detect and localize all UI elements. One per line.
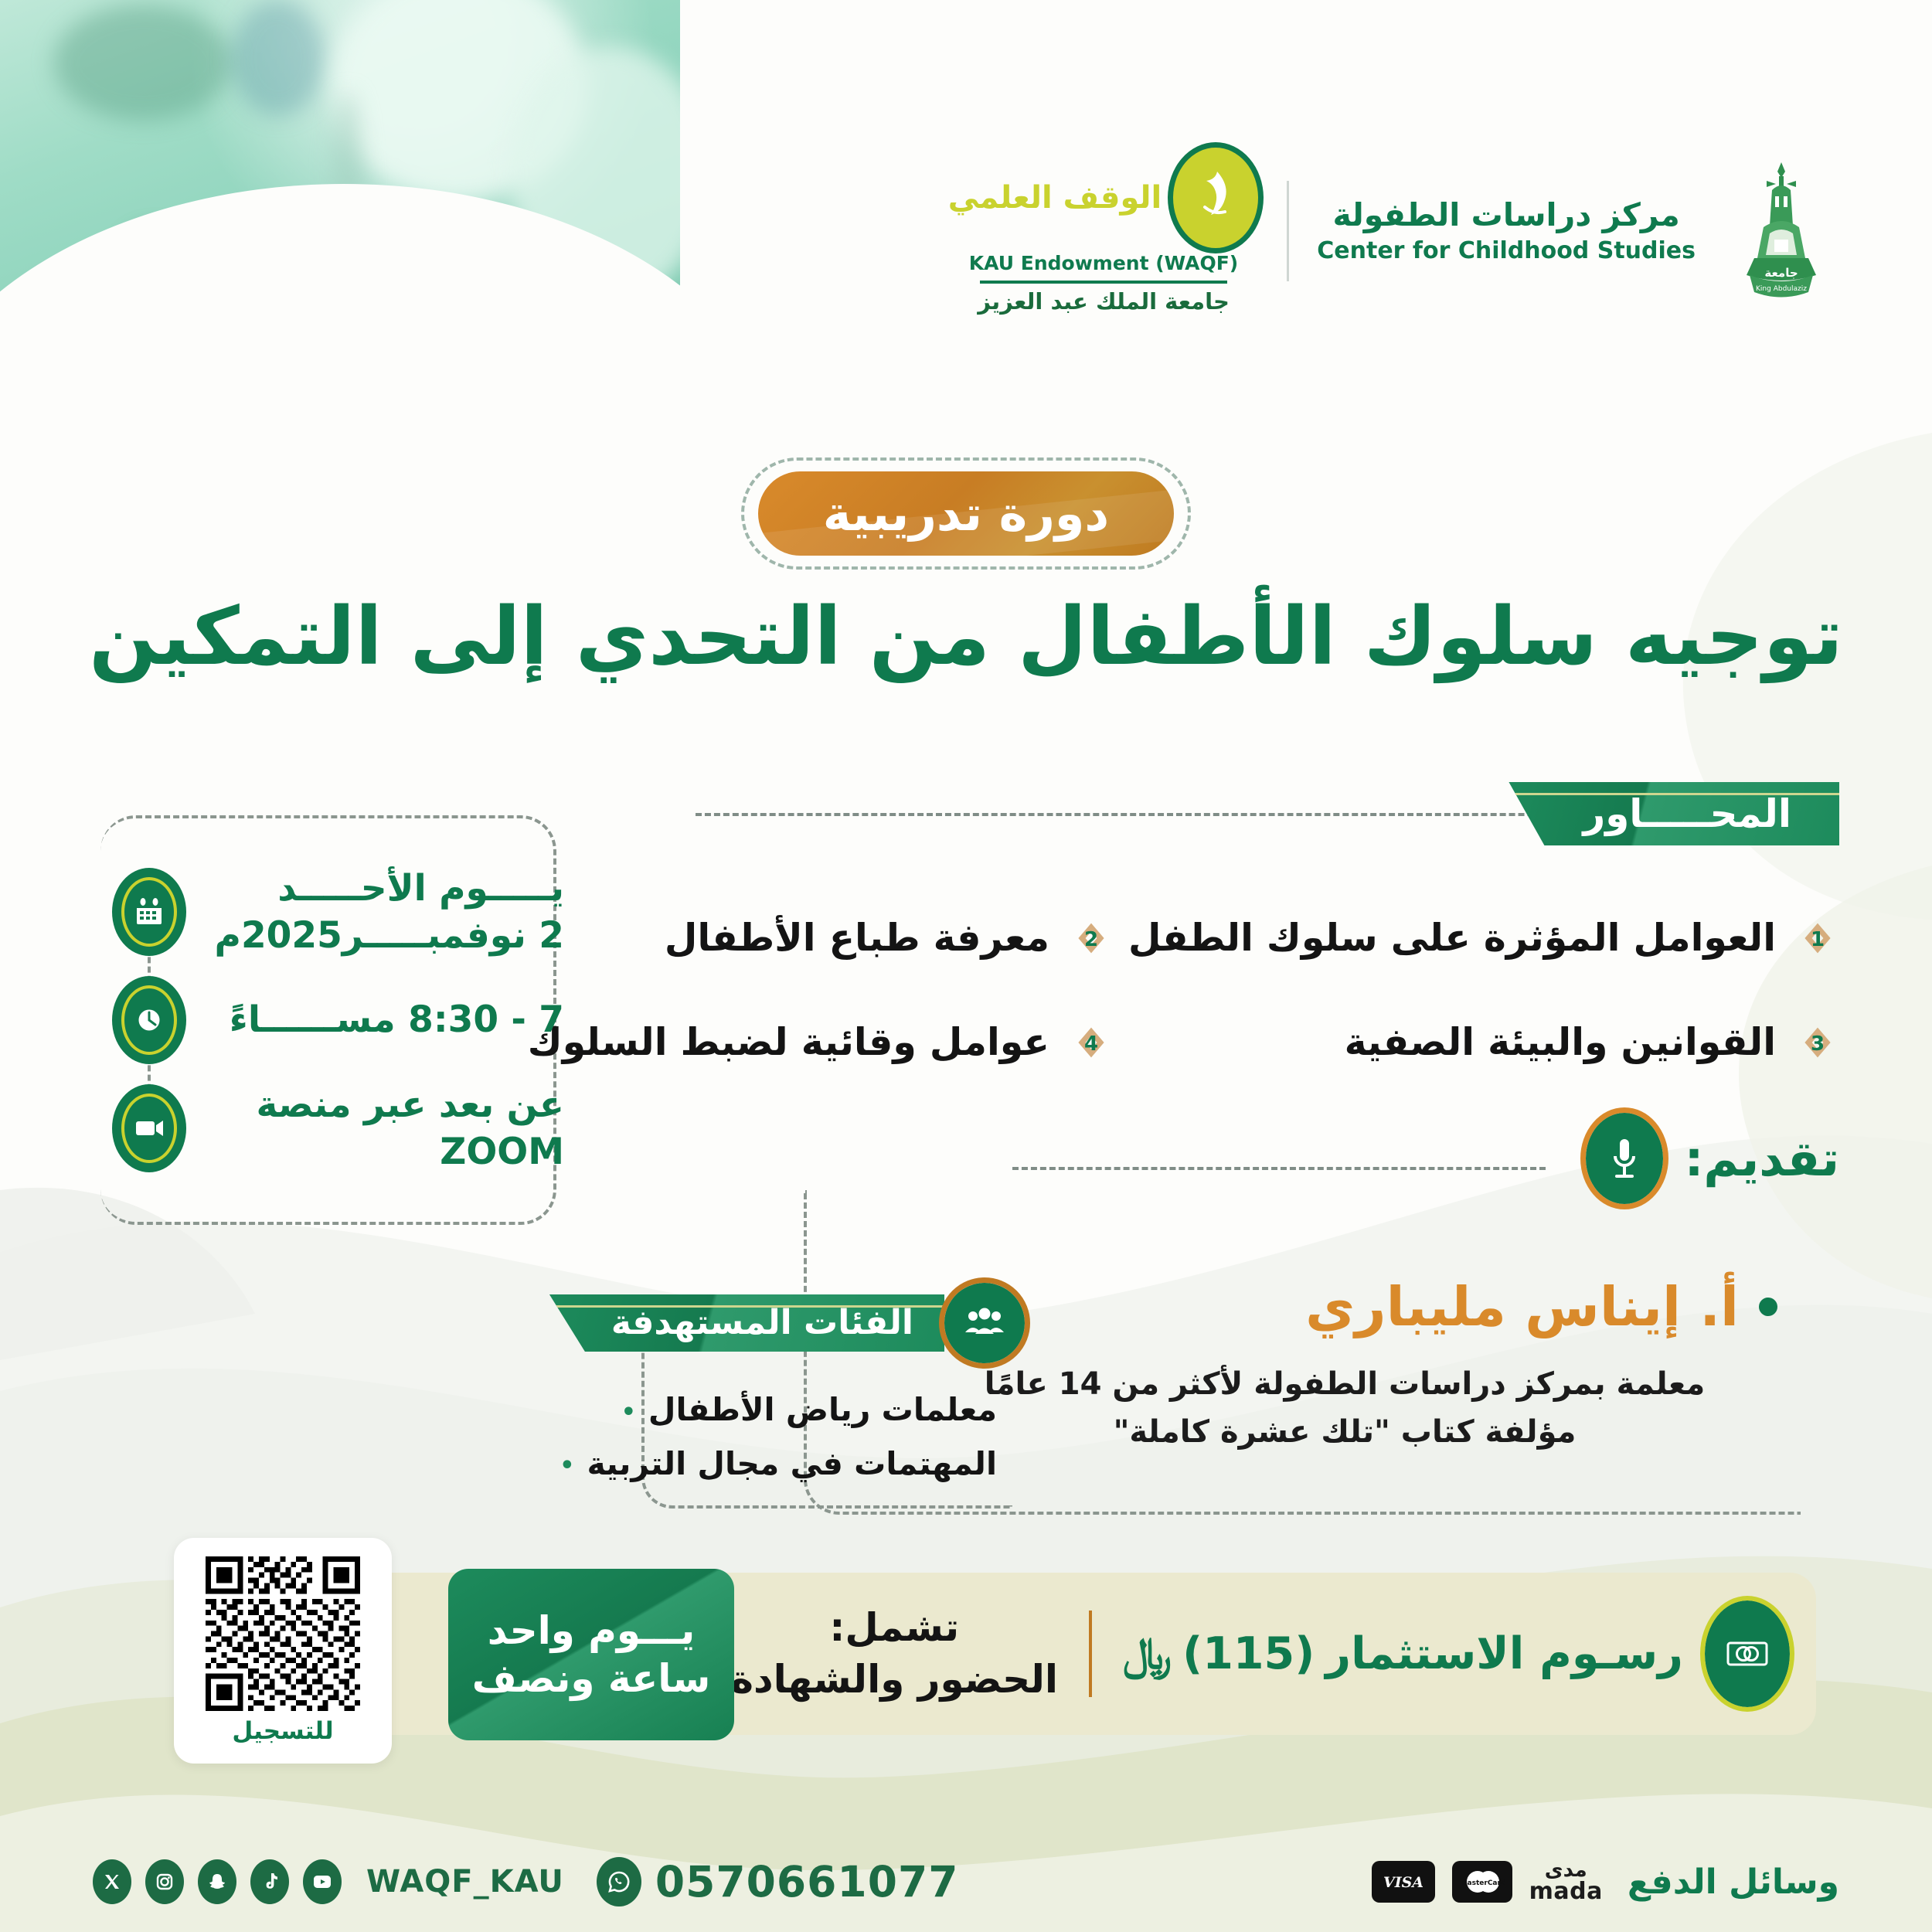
duration-line1: يـــوم واحد	[488, 1608, 696, 1653]
schedule-time-label: 7 - 8:30 مســــــاءً	[206, 996, 564, 1043]
waqf-rule	[980, 281, 1227, 284]
audience-heading: الفئات المستهدفة	[549, 1294, 944, 1352]
presenter-heading: تقديم:	[1685, 1131, 1839, 1187]
badge-dashed-frame: دورة تدريبية	[741, 457, 1192, 570]
fees-includes: تشمل: الحضور والشهادة	[730, 1602, 1058, 1706]
duration-line2: ساعة ونصف	[472, 1656, 711, 1701]
presenter-bio-line2: مؤلفة كتاب "تلك عشرة كاملة"	[912, 1408, 1777, 1456]
waqf-name-en: KAU Endowment (WAQF)	[948, 252, 1259, 274]
instagram-icon[interactable]	[145, 1859, 184, 1904]
svg-text:2: 2	[1084, 928, 1098, 951]
svg-text:3: 3	[1811, 1032, 1825, 1056]
qr-label: للتسجيل	[232, 1717, 333, 1745]
riyal-symbol-icon: ﷼	[1123, 1628, 1172, 1680]
svg-text:جامعة: جامعة	[1764, 266, 1798, 280]
fees-price: رسـوم الاستثمار (115) ﷼	[1123, 1628, 1683, 1680]
schedule-date-label: يـــــوم الأحـــــد 2 نوفمبـــــر2025م	[206, 865, 564, 959]
topic-number-badge-icon: 2	[1070, 917, 1113, 960]
course-type-badge-wrap: دورة تدريبية	[0, 457, 1932, 570]
calendar-icon	[116, 872, 182, 952]
qr-code-icon[interactable]	[198, 1556, 368, 1711]
center-name-ar: مركز دراسات الطفولة	[1317, 198, 1696, 233]
topic-item: 1 العوامل المؤثرة على سلوك الطفل	[1128, 916, 1839, 960]
page-title: توجيه سلوك الأطفال من التحدي إلى التمكين	[70, 587, 1862, 687]
duration-chip: يـــوم واحد ساعة ونصف	[448, 1569, 734, 1740]
video-camera-icon	[116, 1088, 182, 1168]
topic-number-badge-icon: 4	[1070, 1021, 1113, 1064]
youtube-icon[interactable]	[303, 1859, 342, 1904]
fees-divider	[1089, 1611, 1092, 1697]
center-name-block: مركز دراسات الطفولة Center for Childhood…	[1317, 198, 1696, 263]
payment-methods-label: وسائل الدفع	[1628, 1862, 1839, 1902]
topic-label: القوانين والبيئة الصفية	[1345, 1020, 1776, 1064]
waqf-mark-icon	[1172, 147, 1259, 249]
mastercard-icon: MasterCard	[1452, 1861, 1512, 1903]
schedule-item-platform: عن بعد عبر منصة ZOOM	[116, 1074, 564, 1182]
fees-label: رسـوم الاستثمار	[1325, 1628, 1683, 1679]
topics-heading-label: المحـــــاور	[1583, 791, 1791, 836]
topic-label: العوامل المؤثرة على سلوك الطفل	[1128, 916, 1776, 960]
audience-heading-label: الفئات المستهدفة	[611, 1303, 913, 1342]
logo-row: جامعة King Abdulaziz مركز دراسات الطفولة…	[948, 147, 1839, 315]
registration-qr-card[interactable]: للتسجيل	[174, 1538, 392, 1764]
clock-icon	[116, 980, 182, 1060]
course-type-label: دورة تدريبية	[823, 485, 1110, 542]
presenter-heading-wrap: تقديم:	[1586, 1113, 1839, 1204]
topic-label: معرفة طباع الأطفال	[665, 916, 1049, 960]
presenter-name: أ. إيناس مليباري	[1305, 1275, 1739, 1338]
microphone-icon	[1586, 1113, 1663, 1204]
phone-number: 0570661077	[655, 1857, 959, 1906]
topics-heading: المحـــــاور	[1509, 782, 1839, 845]
fees-includes-value: الحضور والشهادة	[730, 1654, 1058, 1706]
tiktok-icon[interactable]	[250, 1859, 289, 1904]
topic-item: 2 معرفة طباع الأطفال	[528, 916, 1113, 960]
schedule-date-line2: 2 نوفمبـــــر2025م	[206, 912, 564, 959]
poster-root: جامعة King Abdulaziz مركز دراسات الطفولة…	[0, 0, 1932, 1932]
whatsapp-icon[interactable]	[597, 1857, 641, 1906]
banknote-icon	[1705, 1600, 1790, 1707]
schedule-item-time: 7 - 8:30 مســــــاءً	[116, 966, 564, 1074]
svg-text:MasterCard: MasterCard	[1460, 1879, 1505, 1887]
svg-text:VISA: VISA	[1383, 1874, 1423, 1891]
waqf-university-ar: جامعة الملك عبد العزيز	[948, 288, 1259, 315]
logo-divider	[1287, 181, 1289, 281]
social-handle: WAQF_KAU	[366, 1864, 564, 1900]
audience-item: معلمات رياض الأطفال	[649, 1383, 997, 1437]
topic-number-badge-icon: 1	[1796, 917, 1839, 960]
kau-seal-icon: جامعة King Abdulaziz	[1723, 159, 1839, 302]
visa-icon: VISA	[1372, 1861, 1435, 1903]
center-name-en: Center for Childhood Studies	[1317, 238, 1696, 264]
mada-logo-icon: مدى mada	[1529, 1860, 1603, 1903]
svg-text:King Abdulaziz: King Abdulaziz	[1756, 285, 1807, 293]
waqf-calligraphy: الوقف العلمي	[948, 180, 1162, 216]
header-photo	[0, 0, 680, 410]
audience-list: معلمات رياض الأطفال المهتمات في مجال الت…	[649, 1383, 997, 1491]
topics-heading-wrap: المحـــــاور	[1509, 782, 1839, 845]
presenter-bio-line1: معلمة بمركز دراسات الطفولة لأكثر من 14 ع…	[912, 1360, 1777, 1408]
fees-includes-label: تشمل:	[730, 1602, 1058, 1655]
footer: وسائل الدفع مدى mada MasterCard VISA	[0, 1835, 1932, 1928]
schedule-item-date: يـــــوم الأحـــــد 2 نوفمبـــــر2025م	[116, 858, 564, 966]
presenter-bullet-icon	[1759, 1298, 1777, 1316]
people-group-icon	[944, 1283, 1025, 1363]
topic-item: 3 القوانين والبيئة الصفية	[1128, 1020, 1839, 1064]
waqf-logo-block: الوقف العلمي KAU Endowment (WAQF) جامعة …	[948, 147, 1259, 315]
course-type-badge: دورة تدريبية	[758, 471, 1175, 556]
schedule-platform-label: عن بعد عبر منصة ZOOM	[206, 1081, 564, 1175]
topic-label: عوامل وقائية لضبط السلوك	[528, 1020, 1049, 1064]
contact-row: WAQF_KAU 0570661077	[93, 1857, 959, 1906]
schedule-date-line1: يـــــوم الأحـــــد	[206, 865, 564, 912]
audience-heading-wrap: الفئات المستهدفة	[549, 1283, 1012, 1363]
topic-number-badge-icon: 3	[1796, 1021, 1839, 1064]
topic-item: 4 عوامل وقائية لضبط السلوك	[528, 1020, 1113, 1064]
audience-item: المهتمات في مجال التربية	[649, 1437, 997, 1492]
svg-text:1: 1	[1811, 928, 1825, 951]
snapchat-icon[interactable]	[198, 1859, 236, 1904]
svg-text:4: 4	[1084, 1032, 1098, 1056]
payment-methods: وسائل الدفع مدى mada MasterCard VISA	[1372, 1860, 1839, 1903]
x-icon[interactable]	[93, 1859, 131, 1904]
fees-amount: (115)	[1182, 1628, 1315, 1679]
presenter-dash-line	[1012, 1167, 1546, 1170]
topics-list: 1 العوامل المؤثرة على سلوك الطفل 2 معرفة…	[680, 916, 1839, 1064]
schedule-list: يـــــوم الأحـــــد 2 نوفمبـــــر2025م 7…	[116, 858, 564, 1182]
mada-en: mada	[1529, 1880, 1603, 1903]
